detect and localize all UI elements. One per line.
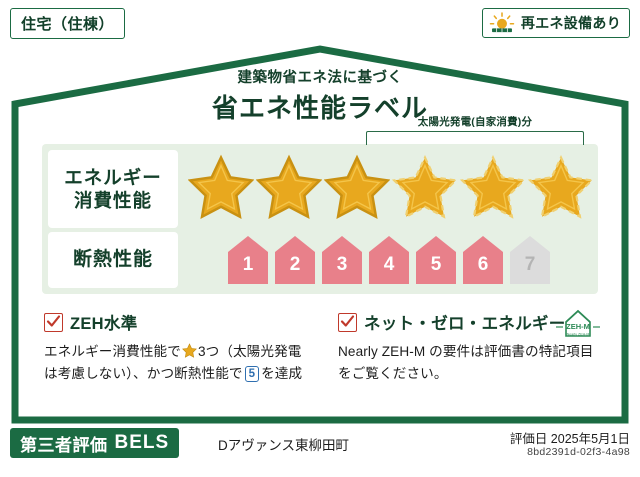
evaluation-id: 8bd2391d-02f3-4a98	[527, 446, 630, 458]
solar-bracket: 太陽光発電(自家消費)分	[364, 114, 586, 148]
star-5	[460, 152, 526, 222]
energy-star-rating	[188, 152, 594, 226]
checkbox-checked-icon	[44, 313, 63, 332]
zeh-body-part3: は考慮しない）、かつ断熱性能で	[44, 366, 243, 381]
insulation-level-number: 5	[414, 254, 458, 276]
energy-performance-row: エネルギー 消費性能 太陽光発電(自家消費)分	[42, 150, 598, 228]
insulation-level-number: 7	[508, 254, 552, 276]
net-zero-energy-body: Nearly ZEH-M の要件は評価書の特記項目をご覧ください。	[338, 341, 606, 385]
insulation-performance-row: 断熱性能 1234567	[42, 232, 598, 288]
insulation-level-2: 2	[273, 234, 317, 286]
star-6	[528, 152, 594, 222]
evaluation-date: 評価日 2025年5月1日	[510, 428, 630, 447]
zeh-body-part1: エネルギー消費性能で	[44, 344, 181, 359]
checkbox-checked-icon	[338, 313, 357, 332]
zeh-body-part4: を達成	[261, 366, 302, 381]
zeh-standard-body: エネルギー消費性能で3つ（太陽光発電は考慮しない）、かつ断熱性能で5を達成	[44, 341, 312, 385]
insulation-level-scale: 1234567	[226, 234, 556, 286]
zeh-standard-header: ZEH水準	[44, 310, 312, 334]
footer-row: 第三者評価 BELS Dアヴァンス東柳田町 評価日 2025年5月1日 8bd2…	[10, 428, 630, 468]
insulation-level-4: 4	[367, 234, 411, 286]
insulation-level-number: 1	[226, 254, 270, 276]
criteria-columns: ZEH水準 エネルギー消費性能で3つ（太陽光発電は考慮しない）、かつ断熱性能で5…	[42, 310, 598, 410]
sun-icon	[489, 12, 515, 34]
title-subtitle: 建築物省エネ法に基づく	[26, 66, 614, 87]
net-zero-energy-header: ネット・ゼロ・エネルギー ZEH-M Nearly ZEH-M	[338, 310, 606, 334]
label-frame: 建築物省エネ法に基づく 省エネ性能ラベル エネルギー 消費性能 太陽光発電(自家…	[10, 44, 630, 425]
energy-performance-label-line2: 消費性能	[74, 189, 152, 212]
net-zero-energy-title: ネット・ゼロ・エネルギー	[364, 310, 566, 334]
insulation-level-number: 2	[273, 254, 317, 276]
insulation-level-1: 1	[226, 234, 270, 286]
building-name: Dアヴァンス東柳田町	[218, 434, 349, 454]
zeh-m-logo-text: ZEH-M	[566, 322, 590, 331]
zeh-standard-title: ZEH水準	[70, 310, 138, 334]
net-zero-energy-column: ネット・ゼロ・エネルギー ZEH-M Nearly ZEH-M	[338, 310, 606, 385]
insulation-level-number: 4	[367, 254, 411, 276]
mini-star-icon	[182, 343, 197, 358]
frame-content: 建築物省エネ法に基づく 省エネ性能ラベル エネルギー 消費性能 太陽光発電(自家…	[26, 60, 614, 411]
renewable-energy-badge: 再エネ設備あり	[482, 8, 630, 38]
bels-jp-label: 第三者評価	[20, 431, 108, 456]
zeh-m-logo-icon: ZEH-M Nearly ZEH-M	[550, 306, 606, 340]
bels-en-label: BELS	[115, 432, 170, 454]
insulation-performance-label: 断熱性能	[48, 232, 178, 288]
insulation-level-5: 5	[414, 234, 458, 286]
energy-label-document: 住宅（住棟） 再エネ設備あり	[0, 0, 640, 477]
house-type-badge: 住宅（住棟）	[10, 8, 125, 39]
zeh-body-part2: 3つ（太陽光発電	[198, 344, 302, 359]
solar-bracket-line	[366, 131, 584, 145]
star-3	[324, 152, 390, 222]
zeh-standard-column: ZEH水準 エネルギー消費性能で3つ（太陽光発電は考慮しない）、かつ断熱性能で5…	[44, 310, 312, 385]
performance-panel: エネルギー 消費性能 太陽光発電(自家消費)分 断熱性能 1234567	[42, 144, 598, 294]
insulation-level-7: 7	[508, 234, 552, 286]
insulation-level-number: 3	[320, 254, 364, 276]
insulation-level-3: 3	[320, 234, 364, 286]
bels-badge: 第三者評価 BELS	[10, 428, 179, 458]
header-row: 住宅（住棟） 再エネ設備あり	[10, 8, 630, 42]
star-2	[256, 152, 322, 222]
star-4	[392, 152, 458, 222]
insulation-level-6: 6	[461, 234, 505, 286]
energy-performance-label: エネルギー 消費性能	[48, 150, 178, 228]
insulation-level-badge: 5	[245, 366, 260, 382]
insulation-level-number: 6	[461, 254, 505, 276]
star-1	[188, 152, 254, 222]
zeh-m-logo-sub: Nearly ZEH-M	[567, 333, 590, 337]
energy-performance-label-line1: エネルギー	[64, 166, 162, 189]
renewable-energy-text: 再エネ設備あり	[521, 13, 621, 33]
solar-bracket-label: 太陽光発電(自家消費)分	[364, 114, 586, 129]
